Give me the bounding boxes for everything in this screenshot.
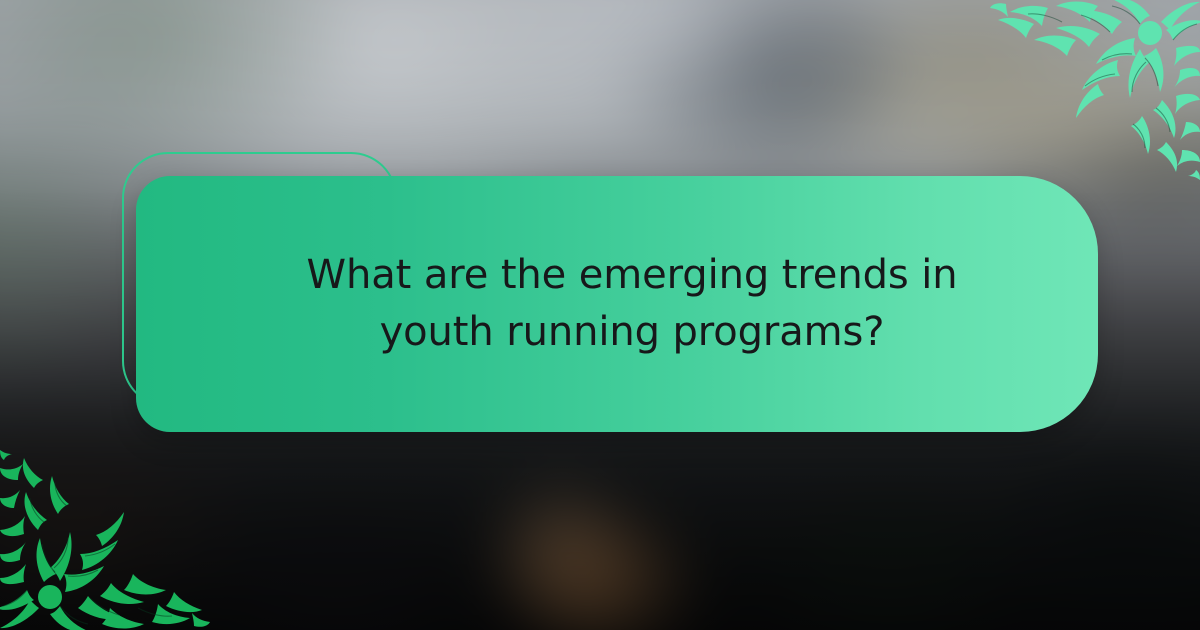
question-card: What are the emerging trends in youth ru…: [136, 176, 1098, 432]
screenshot-canvas: What are the emerging trends in youth ru…: [0, 0, 1200, 630]
page-title: What are the emerging trends in youth ru…: [286, 247, 978, 361]
